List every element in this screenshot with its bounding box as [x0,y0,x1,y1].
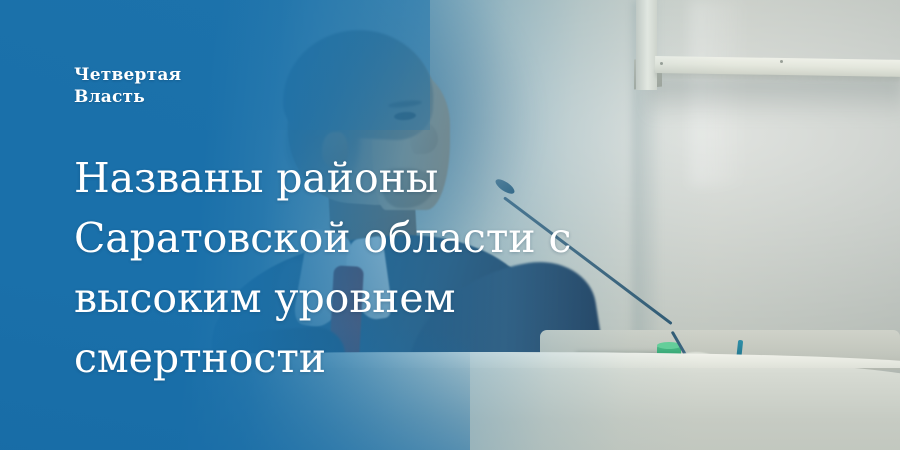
site-logo-line-2: Власть [74,86,634,108]
article-headline[interactable]: Названы районы Саратовской области с выс… [74,108,604,388]
site-logo[interactable]: Четвертая Власть [74,64,634,108]
news-share-card: Четвертая Власть Названы районы Саратовс… [0,0,900,450]
card-content: Четвертая Власть Названы районы Саратовс… [74,64,634,388]
site-logo-line-1: Четвертая [74,64,634,86]
